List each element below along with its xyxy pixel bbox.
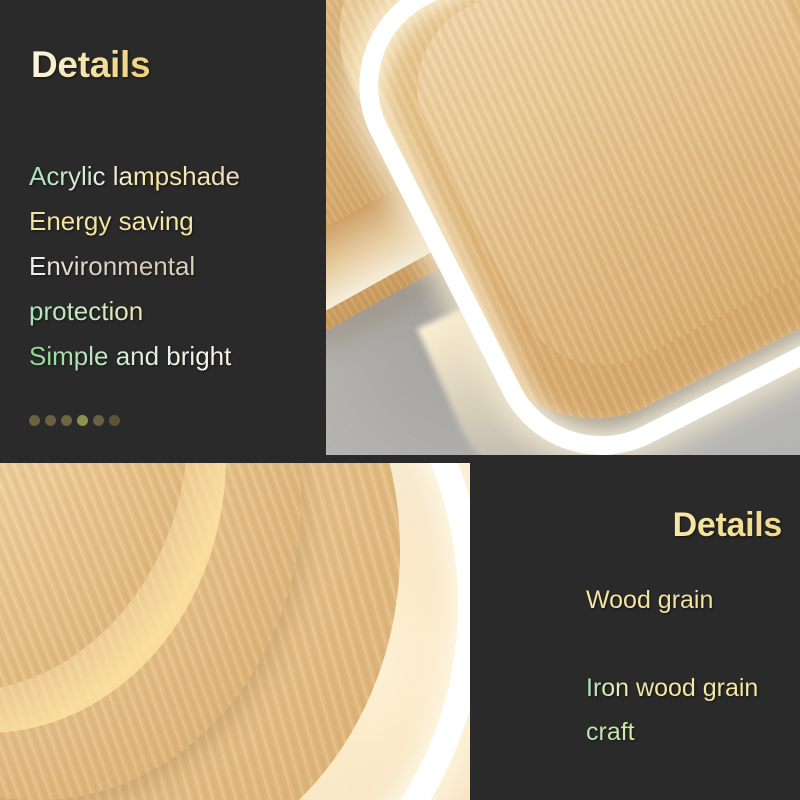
- square-lamp-image: [326, 0, 800, 455]
- feature-line: Iron wood grain: [586, 666, 800, 710]
- feature-line: Wood grain: [586, 578, 800, 622]
- feature-line: Energy saving: [29, 199, 299, 244]
- carousel-dot[interactable]: [93, 415, 104, 426]
- product-photo-square-lamp: [326, 0, 800, 455]
- list-spacer: [586, 622, 800, 666]
- feature-list-top: Acrylic lampshade Energy saving Environm…: [29, 154, 299, 379]
- feature-line: craft: [586, 710, 800, 754]
- clipped-overflow-text: Acrylic lampshade: [586, 792, 800, 800]
- carousel-dot-active[interactable]: [77, 415, 88, 426]
- feature-line: Simple and bright: [29, 334, 299, 379]
- feature-line: Acrylic lampshade: [29, 154, 299, 199]
- page-title: Details: [31, 44, 150, 86]
- feature-line: protection: [29, 289, 299, 334]
- carousel-dot-indicator[interactable]: [29, 415, 120, 426]
- page-title-secondary: Details: [673, 506, 782, 545]
- product-detail-poster: Details Acrylic lampshade Energy saving …: [0, 0, 800, 800]
- carousel-dot[interactable]: [29, 415, 40, 426]
- feature-line: Environmental: [29, 244, 299, 289]
- product-photo-round-lamp: [0, 463, 470, 800]
- carousel-dot[interactable]: [109, 415, 120, 426]
- details-panel-top-left: Details Acrylic lampshade Energy saving …: [0, 0, 322, 459]
- carousel-dot[interactable]: [45, 415, 56, 426]
- carousel-dot[interactable]: [61, 415, 72, 426]
- round-lamp-image: [0, 463, 470, 800]
- feature-list-bottom: Wood grain Iron wood grain craft: [586, 578, 800, 754]
